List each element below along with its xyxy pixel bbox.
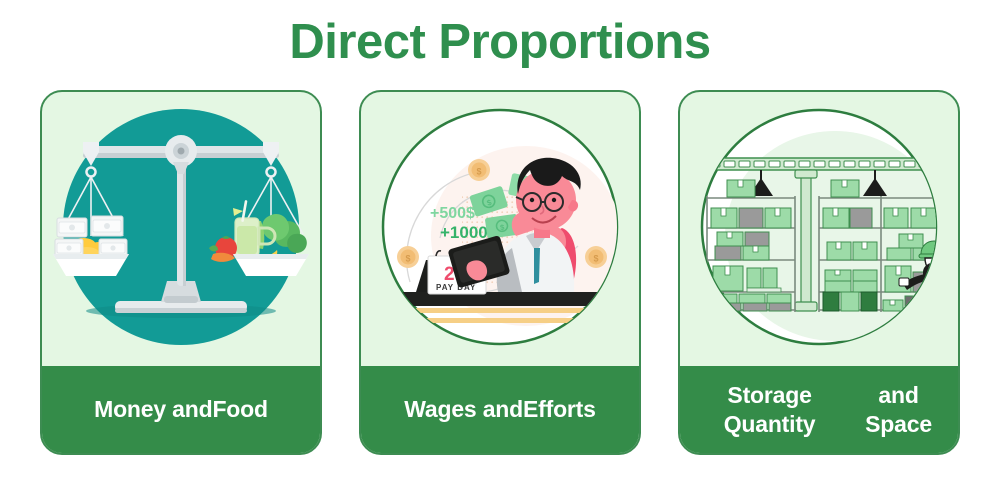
label-increase-small: +500$ (430, 205, 475, 222)
card-wages-and-efforts[interactable]: $ $ $ +500$ (359, 90, 641, 455)
card-title-line1: Storage Quantity (690, 381, 849, 438)
scale-column-shade (183, 156, 186, 286)
beam-slots (709, 161, 930, 167)
card-title-wages-and-efforts: Wages and Efforts (361, 366, 639, 453)
column-base (795, 302, 817, 311)
eye-left (530, 198, 534, 202)
illustration-payday: $ $ $ +500$ (361, 92, 639, 366)
scale-right-pan-rim (233, 254, 309, 259)
card-money-and-food[interactable]: Money and Food (40, 90, 322, 455)
card-title-line1: Money and (94, 395, 212, 424)
coin-symbol-right: $ (593, 254, 598, 264)
eye-right (552, 198, 556, 202)
card-storage-quantity-and-space[interactable]: Storage Quantity and Space (678, 90, 960, 455)
scale-left-pan-rim (53, 254, 129, 259)
coin-top: $ (468, 159, 490, 181)
card-title-money-and-food: Money and Food (42, 366, 320, 453)
card-title-line2: and Space (849, 381, 948, 438)
desk-line-1 (410, 308, 596, 313)
card-title-line2: Food (212, 395, 267, 424)
card-title-line2: Efforts (523, 395, 596, 424)
scale-foot-cap (164, 296, 198, 303)
card-title-storage-quantity-and-space: Storage Quantity and Space (680, 366, 958, 453)
warehouse-scene (703, 131, 953, 341)
coin-symbol-top: $ (476, 167, 481, 177)
coin-left: $ (397, 246, 419, 268)
illustration-balance-scale (42, 92, 320, 366)
card-title-line1: Wages and (404, 395, 523, 424)
column-top (795, 170, 817, 178)
scale-pivot-dot (178, 148, 185, 155)
necktie (534, 248, 540, 284)
illustration-warehouse (680, 92, 958, 366)
warehouse-svg (685, 96, 953, 364)
coin-right: $ (585, 246, 607, 268)
infographic-page: Direct Proportions (0, 0, 1000, 500)
cards-row: Money and Food (40, 90, 960, 455)
scale-base-shadow (115, 308, 247, 313)
page-title: Direct Proportions (0, 14, 1000, 70)
support-column (801, 170, 811, 310)
payday-svg: $ $ $ +500$ (366, 96, 634, 364)
balance-scale-svg (47, 96, 315, 364)
desk-line-2 (420, 318, 586, 323)
coin-symbol-left: $ (405, 254, 410, 264)
